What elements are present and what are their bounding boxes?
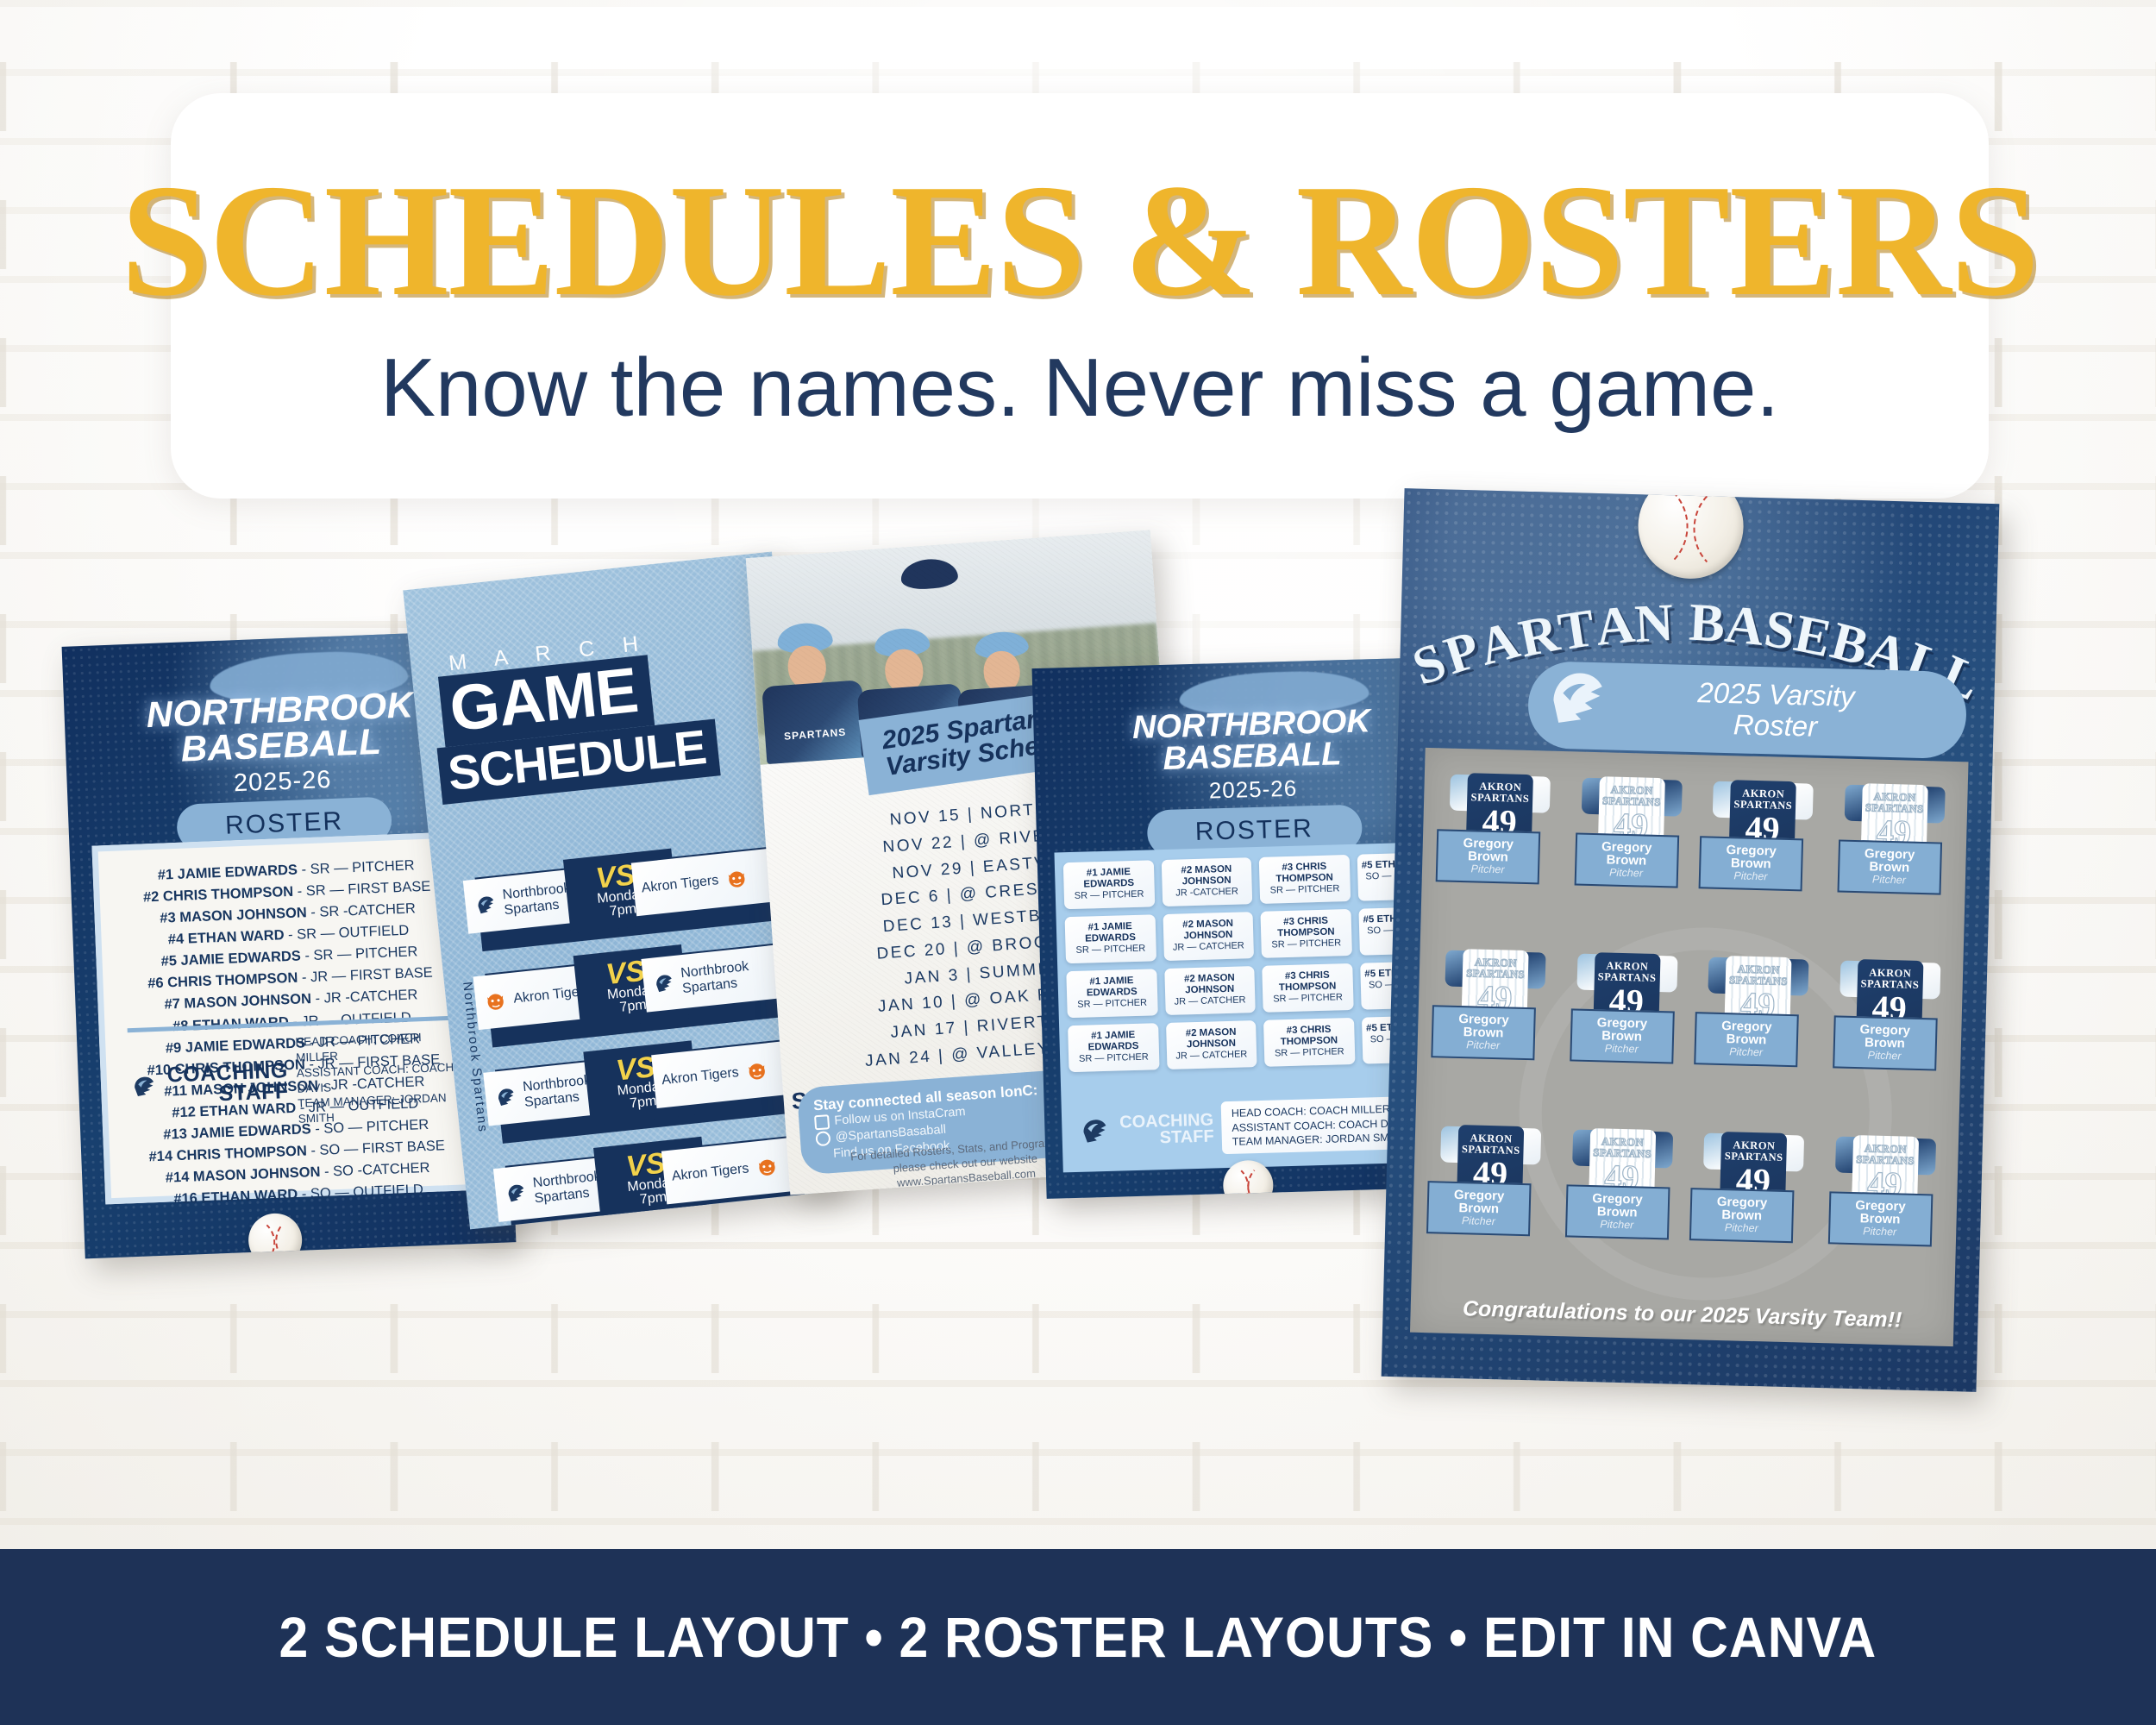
roster-line-detail: - SR — PITCHER	[298, 857, 415, 877]
jersey-team-name: AKRONSPARTANS	[1845, 791, 1946, 815]
jersey-player-position: Pitcher	[1695, 1221, 1788, 1236]
jersey-nameplate: GregoryBrownPitcher	[1426, 1181, 1532, 1236]
roster-line-detail: - SO -CATCHER	[320, 1160, 430, 1180]
arch-letter: B	[1688, 593, 1727, 655]
jersey-card[interactable]: AKRONSPARTANS49GregoryBrownPitcher	[1423, 1113, 1556, 1289]
spartan-helmet-icon	[129, 1071, 160, 1101]
poster1-coaching-staff: COACHING STAFF HEAD COACH: COACH MILLER …	[128, 1016, 461, 1133]
roster-line-detail: - SR — PITCHER	[300, 944, 417, 964]
jersey-player-name: GregoryBrown	[1695, 1195, 1789, 1223]
jersey-card[interactable]: AKRONSPARTANS49GregoryBrownPitcher	[1564, 765, 1697, 941]
jersey-player-position: Pitcher	[1833, 1225, 1927, 1239]
poster5-board: AKRONSPARTANS49GregoryBrownPitcherAKRONS…	[1410, 748, 1969, 1346]
jersey-player-name: GregoryBrown	[1580, 840, 1674, 869]
roster-card-name: #2 MASON JOHNSON	[1169, 1026, 1254, 1051]
tiger-head-icon	[754, 1154, 780, 1181]
jersey-team-name: AKRONSPARTANS	[1441, 1132, 1542, 1157]
roster-card-detail: JR — CATCHER	[1166, 940, 1251, 954]
jersey-card[interactable]: AKRONSPARTANS49GregoryBrownPitcher	[1686, 1120, 1819, 1296]
spartan-helmet-icon	[1538, 661, 1614, 737]
roster-card[interactable]: #3 CHRIS THOMPSONSR — PITCHER	[1262, 963, 1353, 1013]
facebook-icon	[815, 1131, 830, 1146]
roster-card[interactable]: #2 MASON JOHNSONJR -CATCHER	[1161, 857, 1252, 906]
jersey-player-name: GregoryBrown	[1838, 1023, 1932, 1051]
roster-card[interactable]: #3 CHRIS THOMPSONSR — PITCHER	[1259, 855, 1351, 904]
jersey-player-name: GregoryBrown	[1432, 1188, 1526, 1216]
jersey-player-position: Pitcher	[1838, 1049, 1931, 1063]
poster-jersey-roster[interactable]: SPARTAN BASEBALL 2025 Varsity Roster AKR…	[1382, 488, 2000, 1392]
roster-card[interactable]: #2 MASON JOHNSONJR — CATCHER	[1166, 1020, 1257, 1069]
jersey-player-name: GregoryBrown	[1441, 836, 1535, 864]
spartan-helmet-icon	[473, 892, 499, 919]
roster-card-name: #2 MASON JOHNSON	[1167, 972, 1252, 996]
roster-card-detail: JR — CATCHER	[1169, 1049, 1254, 1063]
roster-card[interactable]: #3 CHRIS THOMPSONSR — PITCHER	[1260, 909, 1351, 958]
roster-line-name: #5 JAMIE EDWARDS	[160, 949, 301, 969]
jersey-player-name: GregoryBrown	[1700, 1019, 1794, 1047]
roster-card-detail: SR — PITCHER	[1071, 1051, 1156, 1065]
roster-card-name: #2 MASON JOHNSON	[1165, 918, 1250, 942]
roster-card-detail: JR -CATCHER	[1164, 886, 1250, 900]
roster-line-detail: - JR -CATCHER	[311, 988, 418, 1007]
jersey-player-position: Pitcher	[1704, 869, 1797, 884]
roster-card-name: #2 MASON JOHNSON	[1163, 863, 1249, 888]
roster-card-detail: SR — PITCHER	[1067, 888, 1152, 902]
jersey-nameplate: GregoryBrownPitcher	[1574, 832, 1679, 888]
roster-line-detail: - SR -CATCHER	[306, 900, 416, 920]
jersey-team-name: AKRONSPARTANS	[1839, 967, 1940, 991]
jersey-nameplate: GregoryBrownPitcher	[1436, 829, 1541, 884]
roster-card-name: #3 CHRIS THOMPSON	[1262, 861, 1347, 885]
poster1-staff-lines: HEAD COACH: COACH MILLER ASSISTANT COACH…	[295, 1029, 461, 1127]
roster-card-name: #3 CHRIS THOMPSON	[1264, 969, 1350, 994]
roster-card-name: #1 JAMIE EDWARDS	[1066, 866, 1151, 890]
jersey-nameplate: GregoryBrownPitcher	[1837, 839, 1942, 894]
jersey-card[interactable]: AKRONSPARTANS49GregoryBrownPitcher	[1695, 768, 1828, 944]
jersey-player-name: GregoryBrown	[1833, 1198, 1927, 1226]
jersey-team-name: AKRONSPARTANS	[1450, 781, 1551, 805]
roster-card-detail: SR — PITCHER	[1263, 883, 1348, 897]
roster-card-detail: SR — PITCHER	[1069, 997, 1155, 1011]
jersey-card[interactable]: AKRONSPARTANS49GregoryBrownPitcher	[1827, 772, 1959, 948]
roster-card-detail: SR — PITCHER	[1263, 938, 1349, 951]
roster-line-name: #2 CHRIS THOMPSON	[143, 884, 294, 906]
jersey-card[interactable]: AKRONSPARTANS49GregoryBrownPitcher	[1559, 941, 1692, 1117]
jersey-team-name: AKRONSPARTANS	[1576, 960, 1677, 984]
jersey-player-position: Pitcher	[1437, 1038, 1530, 1053]
jersey-card[interactable]: AKRONSPARTANS49GregoryBrownPitcher	[1691, 944, 1824, 1120]
poster1-team-manager: TEAM MANAGER: JORDAN SMITH	[298, 1090, 461, 1127]
jersey-nameplate: GregoryBrownPitcher	[1689, 1188, 1795, 1243]
jersey-player-position: Pitcher	[1699, 1045, 1792, 1060]
bottom-banner-text: 2 SCHEDULE LAYOUT • 2 ROSTER LAYOUTS • E…	[279, 1604, 1877, 1670]
roster-card[interactable]: #1 JAMIE EDWARDSSR — PITCHER	[1065, 914, 1156, 963]
jersey-player-name: GregoryBrown	[1843, 847, 1937, 875]
jersey-player-name: GregoryBrown	[1704, 843, 1798, 871]
roster-card[interactable]: #1 JAMIE EDWARDSSR — PITCHER	[1066, 969, 1157, 1018]
roster-line-name: #1 JAMIE EDWARDS	[157, 862, 298, 883]
roster-card-name: #1 JAMIE EDWARDS	[1068, 920, 1153, 944]
roster-card-name: #1 JAMIE EDWARDS	[1069, 975, 1155, 999]
roster-card-detail: SR — PITCHER	[1068, 943, 1153, 957]
roster-line-detail: - SO — FIRST BASE	[306, 1138, 445, 1158]
jersey-team-name: AKRONSPARTANS	[1445, 957, 1546, 981]
spartan-helmet-icon	[650, 970, 677, 997]
jersey-player-position: Pitcher	[1432, 1214, 1525, 1229]
instagram-icon	[814, 1115, 830, 1131]
poster1-staff-label: COACHING STAFF	[166, 1061, 289, 1107]
jersey-nameplate: GregoryBrownPitcher	[1431, 1005, 1536, 1060]
roster-line-detail: - SO — OUTFIELD	[298, 1182, 423, 1202]
poster1-paper-panel: #1 JAMIE EDWARDS - SR — PITCHER#2 CHRIS …	[91, 831, 492, 1204]
roster-card-name: #3 CHRIS THOMPSON	[1263, 915, 1349, 939]
header-card: SCHEDULES & ROSTERS Know the names. Neve…	[171, 93, 1989, 499]
roster-line-name: #7 MASON JOHNSON	[164, 992, 311, 1013]
jersey-nameplate: GregoryBrownPitcher	[1570, 1008, 1675, 1063]
matchup-away-name: Akron Tigers	[641, 873, 719, 896]
roster-line-name: #4 ETHAN WARD	[168, 927, 285, 947]
jersey-card[interactable]: AKRONSPARTANS49GregoryBrownPitcher	[1555, 1117, 1688, 1293]
roster-card-detail: SR — PITCHER	[1267, 1046, 1352, 1060]
matchup-away-name: Akron Tigers	[661, 1065, 739, 1088]
roster-line-detail: - SR — OUTFIELD	[284, 923, 409, 944]
jersey-team-name: AKRONSPARTANS	[1582, 784, 1683, 808]
roster-card[interactable]: #3 CHRIS THOMPSONSR — PITCHER	[1263, 1018, 1355, 1067]
roster-line-detail: - SR — FIRST BASE	[293, 879, 431, 900]
jersey-team-name: AKRONSPARTANS	[1708, 963, 1809, 988]
jersey-card[interactable]: AKRONSPARTANS49GregoryBrownPitcher	[1432, 762, 1565, 938]
jersey-card[interactable]: AKRONSPARTANS49GregoryBrownPitcher	[1818, 1124, 1951, 1300]
bottom-banner: 2 SCHEDULE LAYOUT • 2 ROSTER LAYOUTS • E…	[0, 1549, 2156, 1725]
jersey-nameplate: GregoryBrownPitcher	[1699, 836, 1804, 891]
arch-letter: N	[1633, 593, 1676, 655]
jersey-nameplate: GregoryBrownPitcher	[1564, 1184, 1670, 1239]
roster-card-detail: SR — PITCHER	[1265, 992, 1351, 1006]
roster-card[interactable]: #1 JAMIE EDWARDSSR — PITCHER	[1068, 1023, 1159, 1072]
arch-letter	[1675, 593, 1689, 654]
jersey-nameplate: GregoryBrownPitcher	[1833, 1015, 1938, 1070]
roster-card-name: #1 JAMIE EDWARDS	[1070, 1029, 1156, 1053]
jersey-team-name: AKRONSPARTANS	[1835, 1142, 1936, 1166]
roster-line-name: #14 CHRIS THOMPSON	[148, 1143, 307, 1164]
jersey-nameplate: GregoryBrownPitcher	[1694, 1012, 1799, 1067]
roster-line-name: #6 CHRIS THOMPSON	[147, 970, 298, 992]
roster-card[interactable]: #2 MASON JOHNSONJR — CATCHER	[1164, 966, 1256, 1015]
spartan-helmet-icon	[1077, 1113, 1112, 1149]
jersey-player-name: GregoryBrown	[1437, 1012, 1531, 1040]
jersey-nameplate: GregoryBrownPitcher	[1827, 1191, 1933, 1246]
roster-line-name: #3 MASON JOHNSON	[160, 905, 307, 926]
jersey-team-name: AKRONSPARTANS	[1713, 787, 1814, 812]
page-subtitle: Know the names. Never miss a game.	[380, 345, 1779, 432]
jersey-player-position: Pitcher	[1441, 862, 1534, 877]
matchup-away-name: Northbrook Spartans	[680, 957, 775, 997]
poster4-staff-label: COACHING STAFF	[1119, 1112, 1214, 1147]
jersey-player-position: Pitcher	[1579, 866, 1672, 881]
tiger-head-icon	[743, 1057, 770, 1084]
jersey-player-name: GregoryBrown	[1570, 1191, 1664, 1220]
baseball-icon	[1637, 488, 1745, 580]
roster-line-name: #16 ETHAN WARD	[173, 1187, 298, 1207]
poster5-congrats: Congratulations to our 2025 Varsity Team…	[1410, 1295, 1954, 1334]
arch-letter: A	[1593, 594, 1639, 659]
jersey-card[interactable]: AKRONSPARTANS49GregoryBrownPitcher	[1822, 948, 1955, 1124]
roster-card[interactable]: #1 JAMIE EDWARDSSR — PITCHER	[1063, 860, 1155, 909]
jersey-team-name: AKRONSPARTANS	[1704, 1139, 1805, 1164]
roster-line-name: #14 MASON JOHNSON	[166, 1164, 321, 1186]
tiger-head-icon	[482, 988, 509, 1015]
spartan-helmet-icon	[503, 1180, 530, 1207]
matchup-away-name: Akron Tigers	[671, 1162, 749, 1185]
jersey-card[interactable]: AKRONSPARTANS49GregoryBrownPitcher	[1428, 938, 1561, 1113]
jersey-team-name: AKRONSPARTANS	[1572, 1136, 1673, 1160]
jersey-player-name: GregoryBrown	[1575, 1016, 1669, 1044]
roster-card-detail: JR — CATCHER	[1168, 994, 1253, 1008]
jersey-player-position: Pitcher	[1575, 1042, 1668, 1057]
roster-line-detail: - JR — FIRST BASE	[298, 965, 433, 986]
tiger-head-icon	[724, 866, 750, 893]
roster-card[interactable]: #2 MASON JOHNSONJR — CATCHER	[1163, 912, 1254, 961]
jersey-player-position: Pitcher	[1570, 1218, 1664, 1233]
roster-card-name: #3 CHRIS THOMPSON	[1266, 1024, 1351, 1048]
jersey-player-position: Pitcher	[1842, 873, 1935, 888]
poster5-jersey-grid: AKRONSPARTANS49GregoryBrownPitcherAKRONS…	[1423, 762, 1959, 1300]
spartan-helmet-icon	[492, 1084, 519, 1111]
page-title: SCHEDULES & ROSTERS	[121, 160, 2039, 321]
